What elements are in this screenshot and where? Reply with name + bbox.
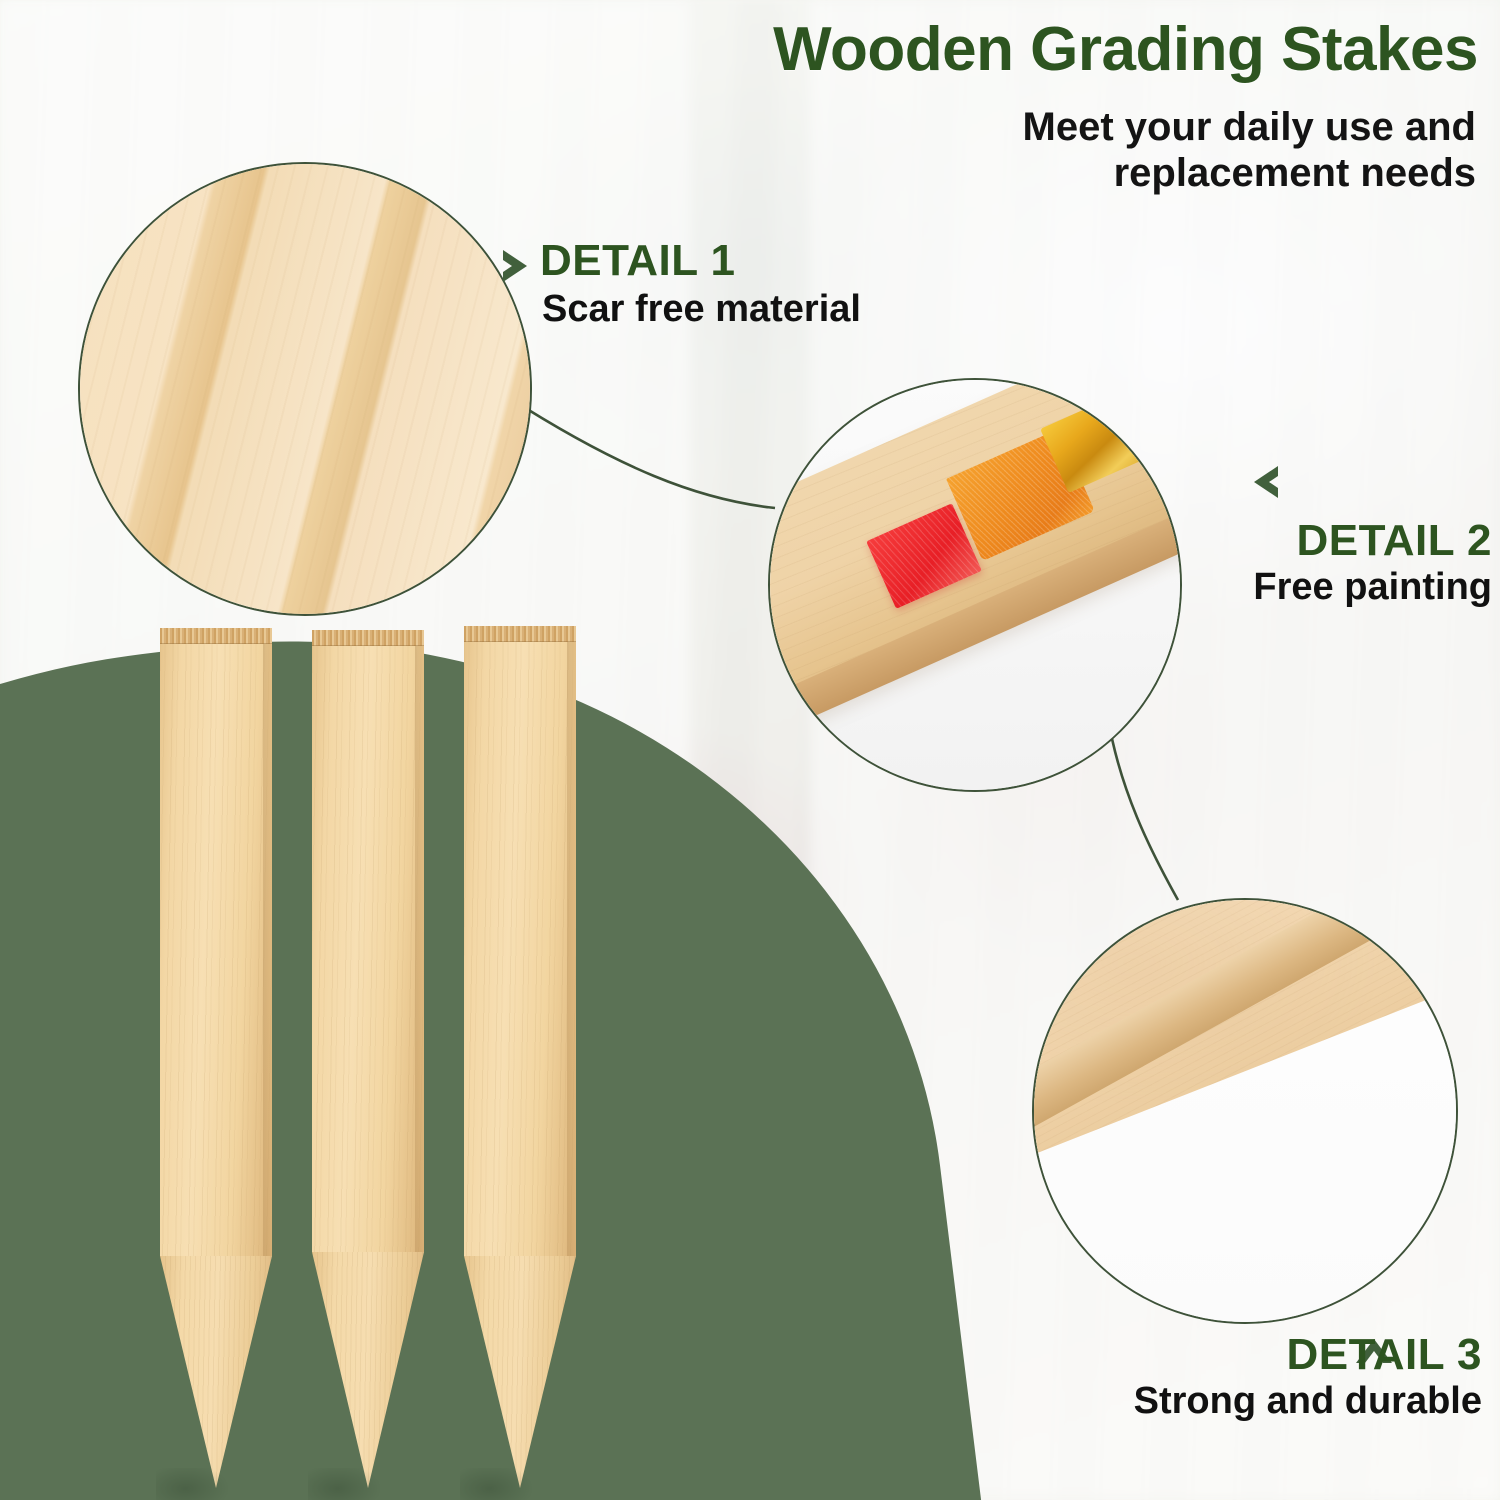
detail-2-caption: Free painting xyxy=(1253,566,1492,609)
detail-3-label-group: DETAIL 3 Strong and durable xyxy=(1134,1330,1482,1423)
detail-2-photo-circle xyxy=(768,378,1182,792)
angled-stake-photo xyxy=(1034,900,1456,1322)
stake-edge xyxy=(415,630,424,1252)
stake-1 xyxy=(160,628,272,1488)
chevron-right-icon xyxy=(497,246,541,286)
detail-1-photo-circle xyxy=(78,162,532,616)
subtitle-line-1: Meet your daily use and xyxy=(856,104,1476,150)
detail-3-title: DETAIL 3 xyxy=(1134,1330,1482,1380)
stake-pointed-tip xyxy=(312,1252,424,1488)
subtitle-line-2: replacement needs xyxy=(856,150,1476,196)
detail-2-label-group: DETAIL 2 Free painting xyxy=(1253,516,1492,609)
stake-body xyxy=(160,628,272,1256)
stake-sawn-top xyxy=(464,626,576,642)
detail-1-title: DETAIL 1 xyxy=(540,236,861,286)
stake-body xyxy=(312,630,424,1252)
chevron-left-icon xyxy=(1240,462,1286,502)
stake-edge xyxy=(567,626,576,1256)
stake-sawn-top xyxy=(312,630,424,646)
stake-2 xyxy=(312,630,424,1488)
stake-shadow xyxy=(460,1468,534,1500)
stake-sawn-top xyxy=(160,628,272,644)
detail-3-caption: Strong and durable xyxy=(1134,1380,1482,1423)
detail-3-photo-circle xyxy=(1032,898,1458,1324)
stake-body xyxy=(464,626,576,1256)
wood-planks-photo xyxy=(80,164,530,614)
detail-1-caption: Scar free material xyxy=(542,288,861,331)
stake-pointed-tip xyxy=(464,1256,576,1488)
stake-edge xyxy=(263,628,272,1256)
stake-shadow xyxy=(156,1468,230,1500)
stake-shadow xyxy=(308,1468,382,1500)
detail-1-label-group: DETAIL 1 Scar free material xyxy=(540,236,861,331)
stake-pointed-tip xyxy=(160,1256,272,1488)
detail-2-title: DETAIL 2 xyxy=(1253,516,1492,566)
page-title: Wooden Grading Stakes xyxy=(773,14,1478,85)
page-subtitle: Meet your daily use and replacement need… xyxy=(856,104,1476,197)
stake-3 xyxy=(464,626,576,1488)
paintbrush-photo xyxy=(770,380,1180,790)
